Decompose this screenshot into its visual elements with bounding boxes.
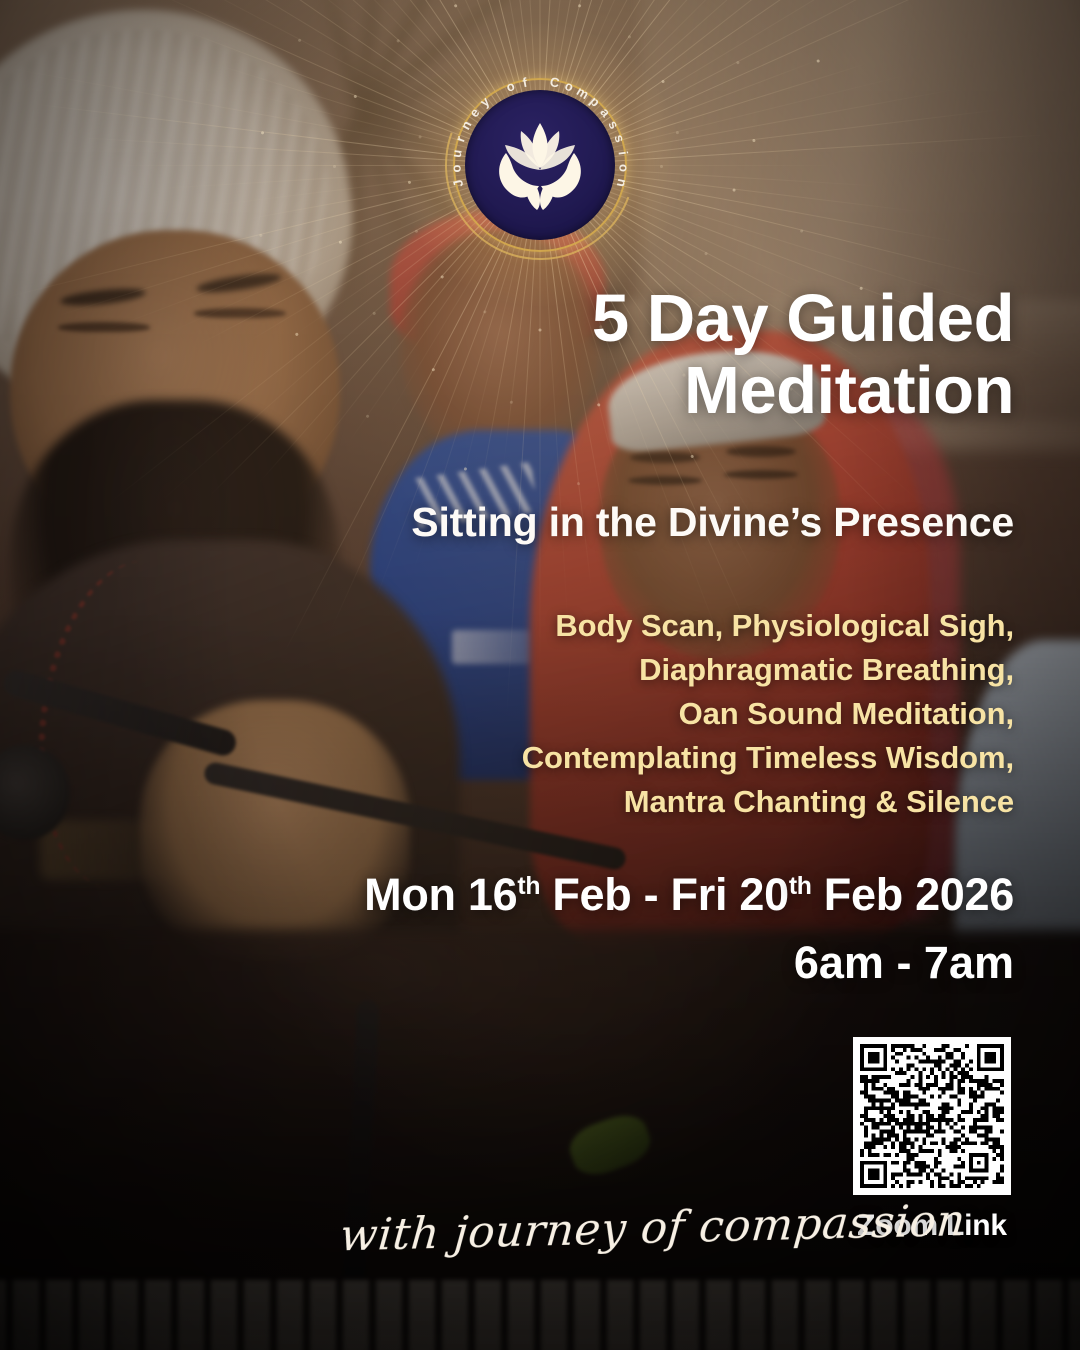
date-suffix: Feb 2026 <box>812 869 1014 920</box>
event-time: 6am - 7am <box>214 938 1014 988</box>
date-prefix: Mon 16 <box>364 869 517 920</box>
poster-title: 5 Day Guided Meditation <box>294 283 1014 426</box>
date-ordinal-2: th <box>789 873 812 900</box>
meditation-event-poster: JourneyofCompassion 5 Day Guided Meditat… <box>0 0 1080 1350</box>
practice-line: Oan Sound Meditation, <box>254 692 1014 736</box>
qr-code-canvas[interactable] <box>860 1044 1004 1188</box>
date-middle: Feb - Fri 20 <box>540 869 789 920</box>
practice-line: Body Scan, Physiological Sigh, <box>254 604 1014 648</box>
poster-subtitle: Sitting in the Divine’s Presence <box>254 500 1014 545</box>
practice-line: Mantra Chanting & Silence <box>254 780 1014 824</box>
organiser-signature: with journey of compassion <box>338 1200 762 1261</box>
qr-code[interactable] <box>853 1037 1011 1195</box>
practices-list: Body Scan, Physiological Sigh,Diaphragma… <box>254 604 1014 824</box>
title-line-2: Meditation <box>294 355 1014 427</box>
event-date: Mon 16th Feb - Fri 20th Feb 2026 <box>214 870 1014 920</box>
practice-line: Contemplating Timeless Wisdom, <box>254 736 1014 780</box>
practice-line: Diaphragmatic Breathing, <box>254 648 1014 692</box>
title-line-1: 5 Day Guided <box>294 283 1014 355</box>
date-ordinal-1: th <box>517 873 540 900</box>
